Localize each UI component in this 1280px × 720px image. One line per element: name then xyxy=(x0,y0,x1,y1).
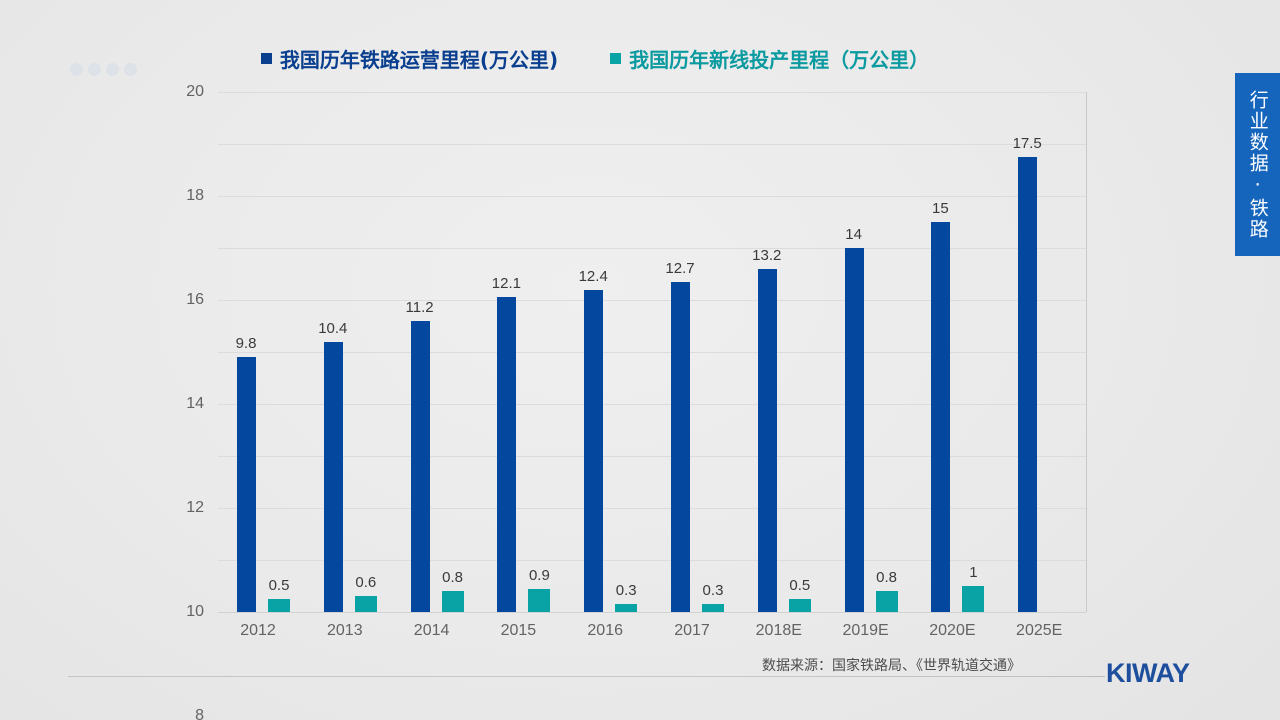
x-axis-tick-label: 2025E xyxy=(1016,622,1062,640)
bar-secondary[interactable] xyxy=(442,591,464,612)
bar-group: 9.80.52012 xyxy=(218,92,305,612)
bar-group: 13.20.52018E xyxy=(739,92,826,612)
bar-primary[interactable] xyxy=(671,282,690,612)
y-axis-tick-label: 20 xyxy=(186,83,204,101)
x-axis-tick-label: 2015 xyxy=(501,622,537,640)
x-axis-tick-label: 2016 xyxy=(587,622,623,640)
x-axis-tick-label: 2013 xyxy=(327,622,363,640)
bar-value-label: 0.5 xyxy=(269,577,290,594)
bar-group: 12.40.32016 xyxy=(565,92,652,612)
bar-value-label: 12.1 xyxy=(492,275,521,292)
bar-secondary[interactable] xyxy=(355,596,377,612)
bar-value-label: 0.5 xyxy=(789,577,810,594)
bar-value-label: 14 xyxy=(845,226,862,243)
bar-group: 1512020E xyxy=(912,92,999,612)
bar-primary[interactable] xyxy=(931,222,950,612)
plot-area: 20181614121086420 9.80.5201210.40.620131… xyxy=(218,92,1086,612)
y-axis-tick-label: 18 xyxy=(186,187,204,205)
bar-value-label: 0.8 xyxy=(876,569,897,586)
bar-value-label: 10.4 xyxy=(318,320,347,337)
bar-chart: 20181614121086420 9.80.5201210.40.620131… xyxy=(218,92,1086,612)
bar-value-label: 0.8 xyxy=(442,569,463,586)
bar-value-label: 13.2 xyxy=(752,247,781,264)
side-tab-industry-data[interactable]: 行业数据·铁路 xyxy=(1235,73,1280,256)
bar-group: 11.20.82014 xyxy=(392,92,479,612)
y-axis-tick-label: 8 xyxy=(195,707,204,720)
legend-label-secondary: 我国历年新线投产里程（万公里） xyxy=(629,44,929,73)
bar-primary[interactable] xyxy=(237,357,256,612)
gridline: 0 xyxy=(218,612,1086,613)
slide-canvas: 我国历年铁路运营里程(万公里) 我国历年新线投产里程（万公里） 20181614… xyxy=(0,0,1280,720)
brand-logo-kiway: KIWAY xyxy=(1106,658,1190,689)
bar-value-label: 0.3 xyxy=(703,582,724,599)
axis-right-border xyxy=(1086,92,1087,612)
bar-value-label: 1 xyxy=(969,564,977,581)
bar-value-label: 12.4 xyxy=(579,268,608,285)
bar-value-label: 12.7 xyxy=(665,260,694,277)
bar-secondary[interactable] xyxy=(615,604,637,612)
bar-group: 10.40.62013 xyxy=(305,92,392,612)
bar-group: 12.10.92015 xyxy=(478,92,565,612)
chart-legend: 我国历年铁路运营里程(万公里) 我国历年新线投产里程（万公里） xyxy=(0,44,1190,73)
bar-secondary[interactable] xyxy=(789,599,811,612)
bar-secondary[interactable] xyxy=(962,586,984,612)
bar-primary[interactable] xyxy=(758,269,777,612)
bar-primary[interactable] xyxy=(584,290,603,612)
bar-value-label: 0.9 xyxy=(529,567,550,584)
bar-group: 17.52025E xyxy=(999,92,1086,612)
bar-primary[interactable] xyxy=(845,248,864,612)
bar-secondary[interactable] xyxy=(702,604,724,612)
x-axis-tick-label: 2018E xyxy=(756,622,802,640)
bar-primary[interactable] xyxy=(324,342,343,612)
bar-group: 12.70.32017 xyxy=(652,92,739,612)
bar-value-label: 17.5 xyxy=(1013,135,1042,152)
bar-value-label: 15 xyxy=(932,200,949,217)
bar-group: 140.82019E xyxy=(826,92,913,612)
x-axis-tick-label: 2017 xyxy=(674,622,710,640)
legend-item-secondary: 我国历年新线投产里程（万公里） xyxy=(610,44,929,73)
bar-value-label: 11.2 xyxy=(406,299,434,316)
bar-value-label: 9.8 xyxy=(236,335,257,352)
bar-primary[interactable] xyxy=(411,321,430,612)
y-axis-tick-label: 14 xyxy=(186,395,204,413)
legend-label-primary: 我国历年铁路运营里程(万公里) xyxy=(280,44,558,73)
x-axis-tick-label: 2014 xyxy=(414,622,450,640)
footer-divider xyxy=(68,676,1105,677)
side-tab-label: 行业数据·铁路 xyxy=(1246,90,1268,240)
legend-item-primary: 我国历年铁路运营里程(万公里) xyxy=(261,44,558,73)
y-axis-tick-label: 12 xyxy=(186,499,204,517)
x-axis-tick-label: 2012 xyxy=(240,622,276,640)
y-axis-tick-label: 10 xyxy=(186,603,204,621)
legend-marker-square-icon xyxy=(610,53,621,64)
bars-group: 9.80.5201210.40.6201311.20.8201412.10.92… xyxy=(218,92,1086,612)
bar-primary[interactable] xyxy=(497,297,516,612)
bar-secondary[interactable] xyxy=(268,599,290,612)
bar-secondary[interactable] xyxy=(876,591,898,612)
bar-primary[interactable] xyxy=(1018,157,1037,612)
x-axis-tick-label: 2020E xyxy=(929,622,975,640)
bar-value-label: 0.3 xyxy=(616,582,637,599)
legend-marker-square-icon xyxy=(261,53,272,64)
x-axis-tick-label: 2019E xyxy=(842,622,888,640)
bar-value-label: 0.6 xyxy=(355,574,376,591)
source-note: 数据来源：国家铁路局、《世界轨道交通》 xyxy=(762,655,1021,675)
y-axis-tick-label: 16 xyxy=(186,291,204,309)
bar-secondary[interactable] xyxy=(528,589,550,612)
